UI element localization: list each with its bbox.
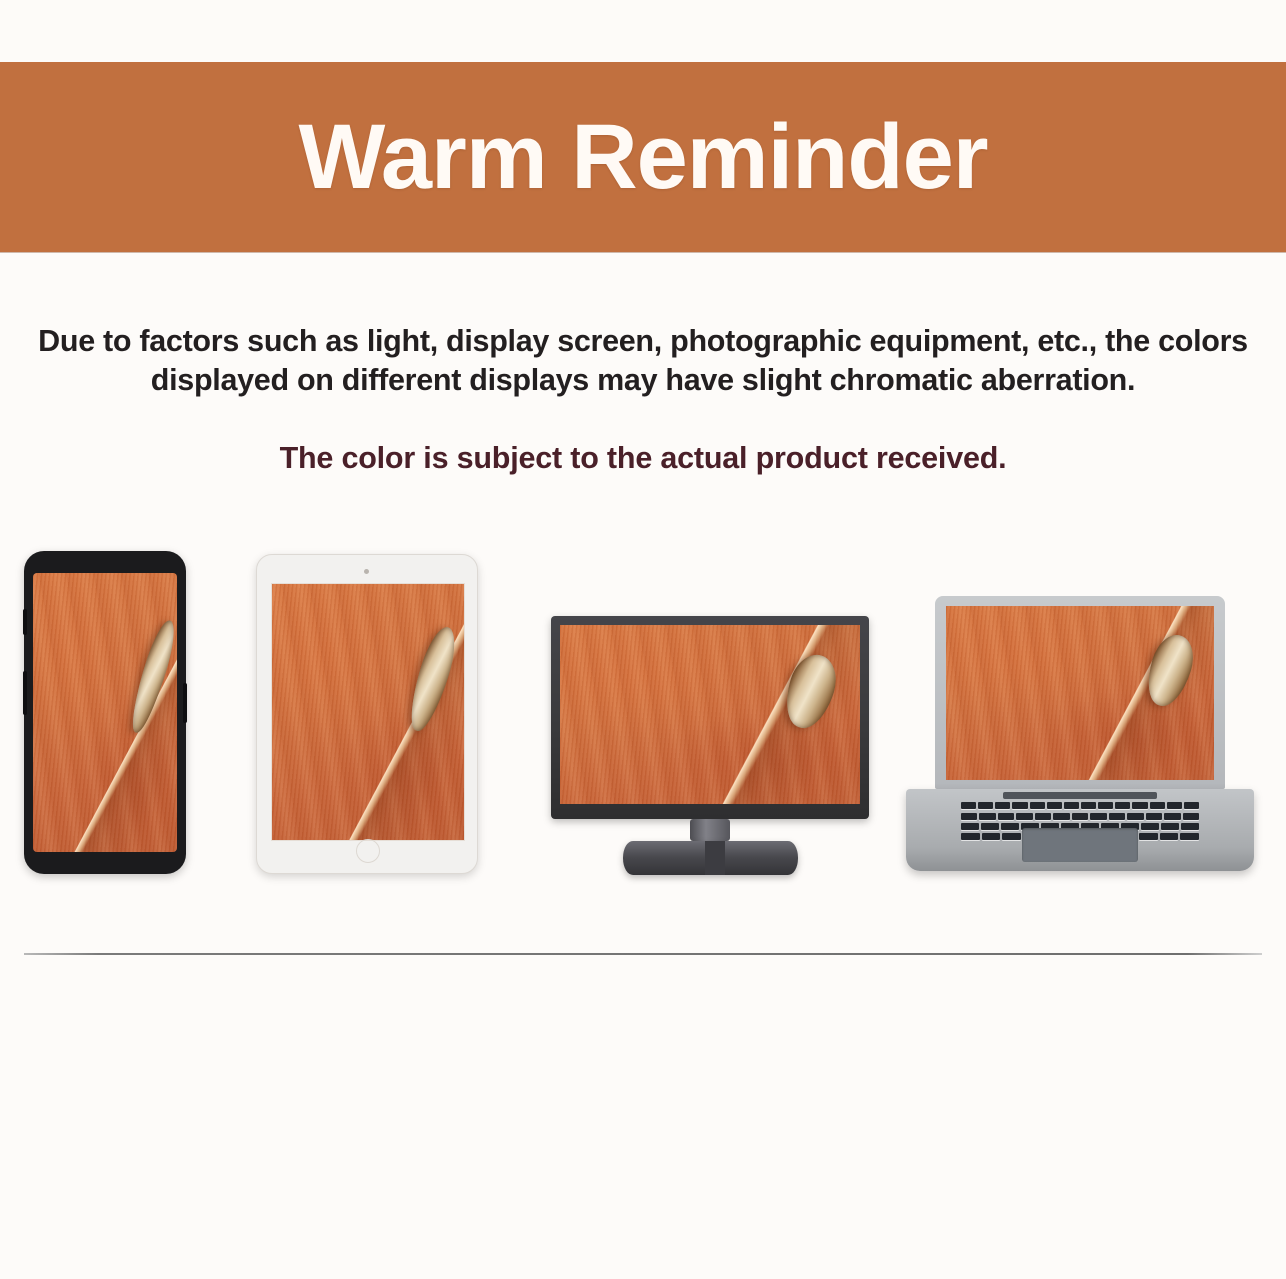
keyboard-key — [1053, 813, 1069, 820]
keyboard-key — [1064, 802, 1079, 809]
tablet-screen — [271, 583, 465, 841]
keyboard-key — [1167, 802, 1182, 809]
monitor-bezel — [551, 616, 869, 819]
keyboard-key — [1016, 813, 1032, 820]
device-laptop — [906, 596, 1254, 874]
keyboard-key — [998, 813, 1014, 820]
keyboard-key — [1098, 802, 1113, 809]
tablet-camera-icon — [364, 569, 369, 574]
keyboard-key — [982, 833, 1001, 840]
keyboard-key — [1181, 823, 1199, 830]
keyboard-key — [1090, 813, 1106, 820]
keyboard-key — [961, 813, 977, 820]
phone-volume-up-button — [23, 609, 27, 635]
laptop-base — [906, 789, 1254, 871]
keyboard-key — [961, 833, 980, 840]
keyboard-key — [978, 802, 993, 809]
keyboard-key — [1072, 813, 1088, 820]
keyboard-key — [961, 823, 979, 830]
keyboard-key — [1139, 833, 1158, 840]
device-monitor — [551, 616, 869, 874]
laptop-trackpad — [1022, 828, 1138, 862]
product-photo-laptop — [946, 606, 1214, 780]
header-banner: Warm Reminder — [0, 62, 1286, 252]
tablet-home-button — [356, 839, 380, 863]
notice-paragraph: Due to factors such as light, display sc… — [30, 322, 1256, 399]
keyboard-key — [979, 813, 995, 820]
monitor-screen — [560, 625, 860, 804]
keyboard-key — [1047, 802, 1062, 809]
keyboard-key — [1183, 813, 1199, 820]
keyboard-key — [1184, 802, 1199, 809]
monitor-stand-base — [623, 841, 798, 875]
keyboard-row — [961, 813, 1199, 820]
product-photo-monitor — [560, 625, 860, 804]
keyboard-key — [1160, 833, 1179, 840]
keyboard-key — [1146, 813, 1162, 820]
section-divider — [24, 953, 1262, 955]
keyboard-key — [1030, 802, 1045, 809]
phone-screen — [33, 573, 177, 852]
keyboard-key — [1180, 833, 1199, 840]
notice-block: Due to factors such as light, display sc… — [0, 322, 1286, 476]
keyboard-key — [1002, 833, 1021, 840]
keyboard-key — [1081, 802, 1096, 809]
phone-volume-down-button — [23, 671, 27, 715]
keyboard-key — [1132, 802, 1147, 809]
keyboard-key — [1141, 823, 1159, 830]
keyboard-key — [961, 802, 976, 809]
top-spacer — [0, 0, 1286, 62]
keyboard-key — [1109, 813, 1125, 820]
device-tablet — [256, 554, 478, 874]
phone-power-button — [183, 683, 187, 723]
keyboard-row — [961, 802, 1199, 809]
section-divider-wrapper — [0, 953, 1286, 955]
product-photo-tablet — [272, 584, 464, 840]
keyboard-key — [1001, 823, 1019, 830]
page-title: Warm Reminder — [278, 111, 1007, 203]
device-illustration-row — [0, 514, 1286, 874]
laptop-hinge — [1003, 792, 1157, 799]
keyboard-key — [1115, 802, 1130, 809]
device-smartphone — [24, 551, 186, 874]
keyboard-key — [995, 802, 1010, 809]
keyboard-key — [981, 823, 999, 830]
keyboard-key — [1161, 823, 1179, 830]
notice-emphasis: The color is subject to the actual produ… — [30, 441, 1256, 476]
product-photo-phone — [33, 573, 177, 852]
keyboard-key — [1012, 802, 1027, 809]
keyboard-key — [1127, 813, 1143, 820]
laptop-lid — [935, 596, 1225, 789]
monitor-stand-neck — [690, 819, 730, 841]
keyboard-key — [1150, 802, 1165, 809]
laptop-screen — [946, 606, 1214, 780]
keyboard-key — [1035, 813, 1051, 820]
keyboard-key — [1164, 813, 1180, 820]
